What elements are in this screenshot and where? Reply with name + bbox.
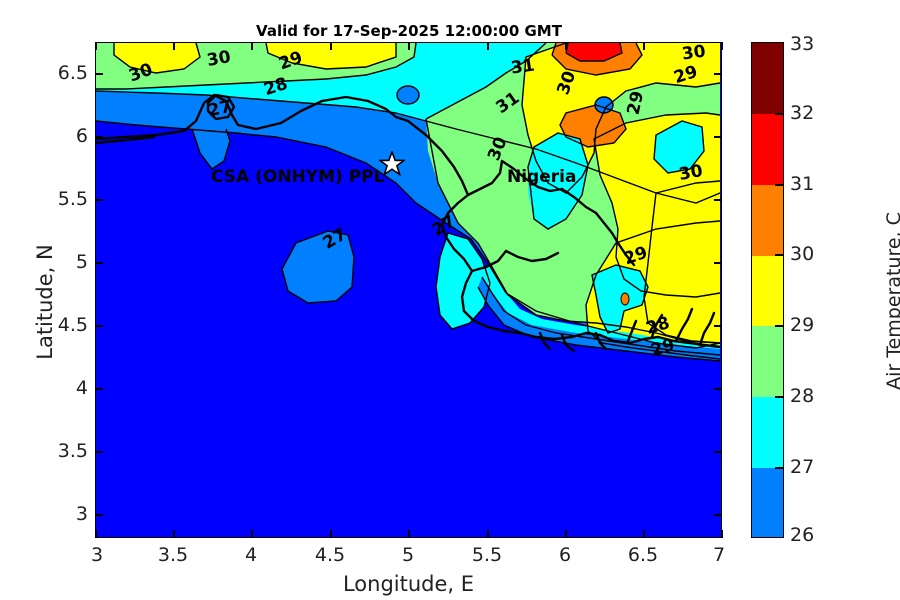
y-tick-label: 3.5 <box>58 440 88 462</box>
y-tick-label: 5.5 <box>58 188 88 210</box>
chart-title: Valid for 17-Sep-2025 12:00:00 GMT <box>95 22 723 40</box>
colorbar-tick-label: 30 <box>790 243 814 265</box>
x-tick-label: 4.5 <box>315 544 345 566</box>
colorbar-band-26-27 <box>752 468 783 538</box>
colorbar-tick-label: 26 <box>790 524 814 546</box>
colorbar-tick-label: 29 <box>790 314 814 336</box>
x-tick-label: 5.5 <box>472 544 502 566</box>
colorbar-band-31-32 <box>752 114 783 185</box>
colorbar-band-27-28 <box>752 397 783 468</box>
x-tick-label: 3.5 <box>158 544 188 566</box>
colorbar-tick-label: 28 <box>790 385 814 407</box>
x-tick-label: 6.5 <box>628 544 658 566</box>
contour-map-plot[interactable]: 30 30 29 28 27 31 30 30 29 31 29 30 30 2… <box>95 42 722 538</box>
x-tick-labels: 3 3.5 4 4.5 5 5.5 6 6.5 7 <box>0 544 900 574</box>
contour-map-svg <box>96 43 720 536</box>
colorbar-band-28-29 <box>752 326 783 397</box>
colorbar-tick-label: 33 <box>790 33 814 55</box>
country-label: Nigeria <box>507 167 576 187</box>
x-tick-label: 7 <box>713 544 725 566</box>
colorbar[interactable] <box>751 42 784 538</box>
colorbar-band-30-31 <box>752 185 783 256</box>
y-axis-label: Latitude, N <box>33 162 57 442</box>
x-tick-label: 3 <box>91 544 103 566</box>
colorbar-tick-label: 32 <box>790 102 814 124</box>
colorbar-label: Air Temperature, C <box>883 151 900 451</box>
x-axis-label: Longitude, E <box>95 572 722 596</box>
x-tick-label: 5 <box>402 544 414 566</box>
y-tick-label: 6 <box>76 125 88 147</box>
contour-label: 30 <box>205 47 232 71</box>
colorbar-tick-label: 27 <box>790 456 814 478</box>
y-tick-label: 3 <box>76 503 88 525</box>
y-tick-label: 4.5 <box>58 314 88 336</box>
colorbar-tick-label: 31 <box>790 173 814 195</box>
contour-label: 30 <box>677 161 704 185</box>
colorbar-band-32-33 <box>752 43 783 114</box>
contour-label: 31 <box>510 55 536 78</box>
colorbar-band-29-30 <box>752 256 783 327</box>
x-tick-label: 6 <box>559 544 571 566</box>
y-tick-label: 4 <box>76 377 88 399</box>
figure-root: Valid for 17-Sep-2025 12:00:00 GMT <box>0 0 900 600</box>
site-label: CSA (ONHYM) PPL <box>211 167 384 187</box>
x-tick-label: 4 <box>245 544 257 566</box>
y-tick-label: 5 <box>76 251 88 273</box>
y-tick-label: 6.5 <box>58 62 88 84</box>
